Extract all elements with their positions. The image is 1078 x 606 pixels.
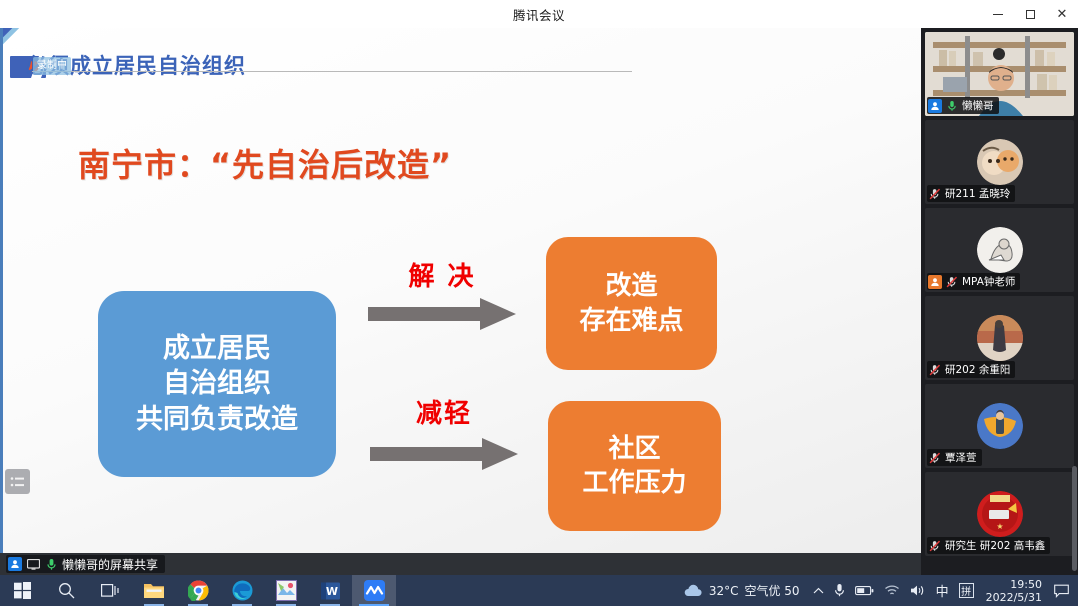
windows-taskbar: W 32°C 空气优 50 xyxy=(0,575,1078,606)
participant-name: 研究生 研202 高韦鑫 xyxy=(945,538,1045,553)
clock-button[interactable]: 19:50 2022/5/31 xyxy=(979,578,1049,604)
chrome-icon xyxy=(188,580,209,601)
blue-box-line-1: 成立居民 xyxy=(163,331,271,367)
avatar: ★ xyxy=(977,491,1023,537)
participant-name-chip: 覃泽萱 xyxy=(927,449,982,466)
participant-tile[interactable]: MPA钟老师 xyxy=(925,208,1074,292)
orange-box-1-line-2: 存在难点 xyxy=(579,304,683,338)
screen-share-owner-label: 懒懒哥的屏幕共享 xyxy=(62,556,158,573)
speaker-icon xyxy=(910,584,926,597)
notification-icon xyxy=(1054,584,1069,598)
search-icon xyxy=(58,582,75,599)
microphone-muted-icon xyxy=(928,363,942,377)
notification-center-button[interactable] xyxy=(1049,575,1074,606)
host-badge-icon xyxy=(928,99,942,113)
show-hidden-icons-button[interactable] xyxy=(808,575,829,606)
google-chrome-button[interactable] xyxy=(176,575,220,606)
slide-subtitle: 南宁市：“先自治后改造” xyxy=(78,140,452,186)
participant-tile[interactable]: 覃泽萱 xyxy=(925,384,1074,468)
participant-name: 覃泽萱 xyxy=(945,450,977,465)
file-explorer-button[interactable] xyxy=(132,575,176,606)
arrow-group-1: 解 决 xyxy=(368,256,516,328)
participant-tile[interactable]: ★ 研究生 研202 高韦鑫 xyxy=(925,472,1074,556)
weather-widget[interactable]: 32°C 空气优 50 xyxy=(679,582,808,599)
slide-header-rule xyxy=(32,71,632,72)
volume-tray-button[interactable] xyxy=(905,575,931,606)
start-button[interactable] xyxy=(0,575,44,606)
battery-tray-button[interactable] xyxy=(850,575,879,606)
task-view-button[interactable] xyxy=(88,575,132,606)
orange-box-workload: 社区 工作压力 xyxy=(548,401,721,531)
blue-box-line-2: 自治组织 xyxy=(163,366,271,402)
participant-tile[interactable]: 研202 余重阳 xyxy=(925,296,1074,380)
participant-roster[interactable]: 懒懒哥 xyxy=(921,28,1078,575)
clock-time: 19:50 xyxy=(1010,578,1042,591)
arrow-group-2: 减轻 xyxy=(370,393,518,468)
arrow-label-2: 减轻 xyxy=(416,393,472,430)
taskbar-apps: W xyxy=(0,575,396,606)
microsoft-word-button[interactable]: W xyxy=(308,575,352,606)
recording-badge: 录制中 xyxy=(33,57,71,75)
tencent-meeting-icon xyxy=(364,580,385,601)
orange-box-2-line-1: 社区 xyxy=(608,432,660,466)
participant-name: 研211 孟晓玲 xyxy=(945,186,1010,201)
arrow-label-1: 解 决 xyxy=(408,256,475,293)
presentation-slide: 必须成立居民自治组织 录制中 南宁市：“先自治后改造” 成立居民 自治组织 共同… xyxy=(0,28,921,553)
participant-name-chip: MPA钟老师 xyxy=(927,273,1020,290)
battery-icon xyxy=(855,585,874,596)
roster-scrollbar[interactable] xyxy=(1072,466,1077,571)
shared-screen-stage[interactable]: 必须成立居民自治组织 录制中 南宁市：“先自治后改造” 成立居民 自治组织 共同… xyxy=(0,28,921,575)
window-title: 腾讯会议 xyxy=(513,5,565,24)
screen-share-owner-chip: 懒懒哥的屏幕共享 xyxy=(6,555,165,573)
microphone-icon xyxy=(44,557,58,571)
avatar xyxy=(977,227,1023,273)
microphone-tray-button[interactable] xyxy=(829,575,850,606)
weather-temperature: 32°C xyxy=(709,584,739,598)
clock-date: 2022/5/31 xyxy=(986,591,1042,604)
microphone-icon xyxy=(834,583,845,598)
participant-name: 懒懒哥 xyxy=(962,98,994,113)
slide-left-accent xyxy=(0,28,3,553)
microphone-muted-icon xyxy=(928,539,942,553)
slide-header-title: 必须成立居民自治组织 xyxy=(26,50,666,80)
minimize-button[interactable] xyxy=(982,0,1014,28)
slide-panel-toggle-button[interactable] xyxy=(5,469,30,494)
participant-name-chip: 研202 余重阳 xyxy=(927,361,1015,378)
minimize-icon xyxy=(993,14,1003,15)
close-button[interactable]: ✕ xyxy=(1046,0,1078,28)
search-button[interactable] xyxy=(44,575,88,606)
tencent-meeting-button[interactable] xyxy=(352,575,396,606)
avatar xyxy=(977,139,1023,185)
screen-share-icon xyxy=(26,557,40,571)
task-view-icon xyxy=(101,583,120,598)
avatar xyxy=(977,403,1023,449)
participant-name-chip: 研究生 研202 高韦鑫 xyxy=(927,537,1050,554)
microsoft-edge-button[interactable] xyxy=(220,575,264,606)
avatar xyxy=(977,315,1023,361)
svg-text:W: W xyxy=(325,585,337,598)
orange-box-difficulties: 改造 存在难点 xyxy=(546,237,717,370)
participant-tile[interactable]: 懒懒哥 xyxy=(925,32,1074,116)
orange-box-2-line-2: 工作压力 xyxy=(582,466,686,500)
stripe-blue-light-icon xyxy=(0,28,45,137)
participant-name: MPA钟老师 xyxy=(962,274,1015,289)
svg-text:★: ★ xyxy=(996,522,1003,531)
cohost-badge-icon xyxy=(928,275,942,289)
window-controls: ✕ xyxy=(982,0,1078,28)
microphone-muted-icon xyxy=(928,451,942,465)
slide-header: 必须成立居民自治组织 xyxy=(26,50,666,80)
network-tray-button[interactable] xyxy=(879,575,905,606)
ime-language-button[interactable]: 中 xyxy=(931,581,954,600)
maximize-button[interactable] xyxy=(1014,0,1046,28)
word-icon: W xyxy=(321,581,340,601)
microphone-muted-icon xyxy=(928,187,942,201)
ime-mode-button[interactable]: 拼 xyxy=(954,575,979,606)
arrow-right-2-icon xyxy=(370,438,518,470)
maximize-icon xyxy=(1026,10,1035,19)
edge-icon xyxy=(232,580,253,601)
participant-name-chip: 研211 孟晓玲 xyxy=(927,185,1015,202)
blue-box-line-3: 共同负责改造 xyxy=(136,402,298,438)
file-explorer-icon xyxy=(143,581,165,600)
blue-concept-box: 成立居民 自治组织 共同负责改造 xyxy=(98,291,336,477)
microphone-icon xyxy=(945,99,959,113)
cloud-icon xyxy=(683,584,703,598)
system-tray: 32°C 空气优 50 xyxy=(679,575,1078,606)
screen: 腾讯会议 ✕ 必须成立居民自治组织 xyxy=(0,0,1078,606)
wifi-icon xyxy=(884,584,900,597)
microphone-muted-icon xyxy=(945,275,959,289)
screen-share-bar: 懒懒哥的屏幕共享 xyxy=(0,553,921,575)
weather-air-quality: 空气优 50 xyxy=(744,582,799,599)
participant-name-chip: 懒懒哥 xyxy=(927,97,999,114)
arrow-right-1-icon xyxy=(368,298,516,330)
chevron-up-icon xyxy=(813,587,824,595)
list-icon xyxy=(10,476,25,488)
orange-box-1-line-1: 改造 xyxy=(605,269,657,303)
participant-tile[interactable]: 研211 孟晓玲 xyxy=(925,120,1074,204)
participant-name: 研202 余重阳 xyxy=(945,362,1010,377)
ime-mode-label: 拼 xyxy=(959,583,974,598)
meeting-window-body: 必须成立居民自治组织 录制中 南宁市：“先自治后改造” 成立居民 自治组织 共同… xyxy=(0,28,1078,575)
close-icon: ✕ xyxy=(1057,8,1068,21)
window-titlebar: 腾讯会议 ✕ xyxy=(0,0,1078,28)
windows-logo-icon xyxy=(14,582,31,599)
photo-app-button[interactable] xyxy=(264,575,308,606)
photo-app-icon xyxy=(276,580,297,601)
host-badge-icon xyxy=(8,557,22,571)
